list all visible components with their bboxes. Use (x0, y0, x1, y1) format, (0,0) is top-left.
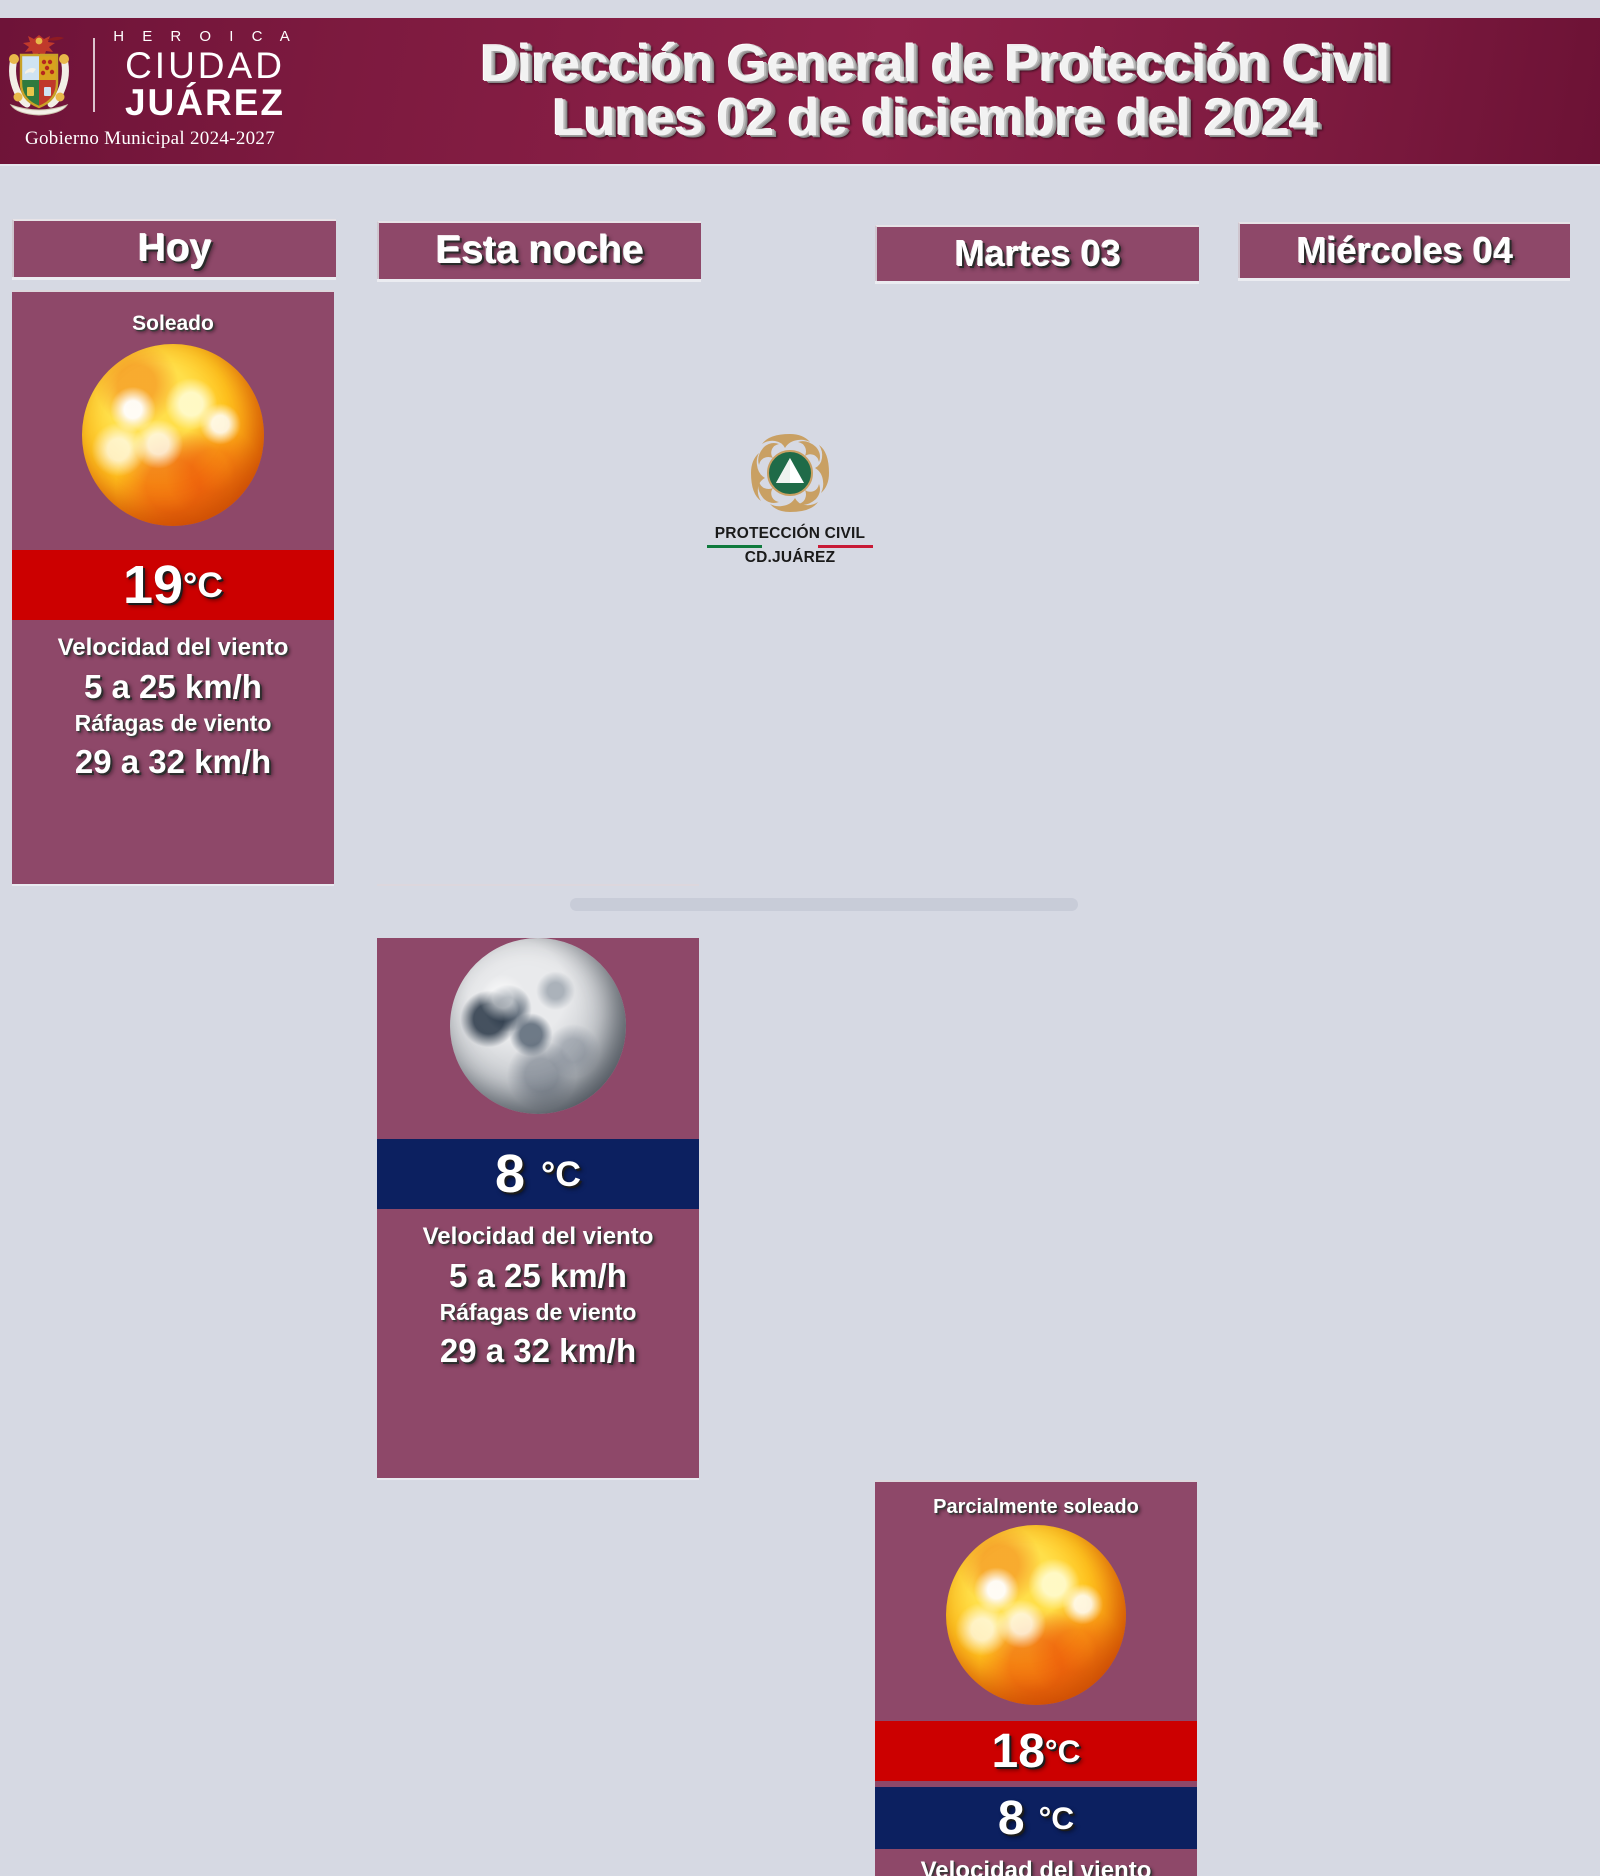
temp-high-value: 19 (123, 554, 183, 616)
wind-gust-label: Ráfagas de viento (12, 710, 334, 737)
brand-subtitle: Gobierno Municipal 2024-2027 (25, 128, 275, 150)
forecast-card-hoy-body: Soleado 19°C Velocidad del viento 5 a 25… (12, 290, 334, 884)
proteccion-civil-logo: PROTECCIÓN CIVIL CD.JUÁREZ (700, 430, 880, 567)
brand-heroica: H E R O I C A (113, 29, 297, 44)
forecast-card-esta-noche-body: Parcialmente nublado 8°C Velocidad del v… (377, 884, 699, 1478)
rule-red (818, 545, 873, 548)
banner-title-line2: Lunes 02 de diciembre del 2024 (552, 91, 1317, 145)
horizontal-scrollbar-thumb[interactable] (570, 898, 1078, 911)
temp-low: 8°C (875, 1787, 1197, 1849)
banner-title-line1: Dirección General de Protección Civil (480, 37, 1389, 91)
card-condition: Parcialmente soleado (875, 1496, 1197, 1519)
temp-low-value: 8 (998, 1791, 1025, 1846)
card-condition: Soleado (12, 312, 334, 336)
card-day-label: Miércoles 04 (1238, 222, 1570, 278)
card-day-label: Esta noche (377, 221, 701, 279)
forecast-card-miercoles[interactable]: Miércoles 04 (1238, 222, 1568, 278)
wind-gust-value: 29 a 32 km/h (12, 743, 334, 781)
header-banner: H E R O I C A CIUDAD JUÁREZ Gobierno Mun… (0, 18, 1600, 164)
moon-icon (450, 938, 626, 1114)
brand-divider (93, 38, 95, 112)
proteccion-civil-triangle-icon (747, 503, 833, 520)
forecast-card-martes-body: Parcialmente soleado 18°C 8°C Velocidad … (875, 1480, 1197, 1876)
weather-infographic-page: H E R O I C A CIUDAD JUÁREZ Gobierno Mun… (0, 0, 1600, 938)
brand-ciudad: CIUDAD (113, 47, 297, 84)
municipal-brand: H E R O I C A CIUDAD JUÁREZ Gobierno Mun… (0, 18, 300, 164)
forecast-card-esta-noche[interactable]: Esta noche (377, 221, 699, 279)
horizontal-scrollbar-track[interactable] (0, 886, 1600, 938)
wind-speed-label: Velocidad del viento (377, 1223, 699, 1251)
sun-icon (946, 1525, 1126, 1705)
rule-green (707, 545, 762, 548)
temp-high: 19°C (12, 550, 334, 620)
wind-speed-value: 5 a 25 km/h (377, 1257, 699, 1295)
wind-gust-label: Ráfagas de viento (377, 1299, 699, 1326)
forecast-card-hoy[interactable]: Hoy (12, 219, 334, 277)
proteccion-civil-title: PROTECCIÓN CIVIL (700, 525, 880, 543)
sun-icon (82, 344, 264, 526)
wind-speed-label: Velocidad del viento (875, 1857, 1197, 1876)
card-day-label: Martes 03 (875, 225, 1199, 281)
temp-high-value: 18 (992, 1724, 1045, 1779)
wind-gust-value: 29 a 32 km/h (377, 1332, 699, 1370)
rule-gap (762, 545, 817, 548)
coat-of-arms-icon (3, 31, 75, 119)
banner-title: Dirección General de Protección Civil Lu… (300, 18, 1600, 164)
wind-speed-label: Velocidad del viento (12, 634, 334, 662)
proteccion-civil-subtitle: CD.JUÁREZ (700, 549, 880, 567)
forecast-card-martes[interactable]: Martes 03 (875, 225, 1197, 281)
temp-low: 8°C (377, 1139, 699, 1209)
temp-high: 18°C (875, 1721, 1197, 1781)
proteccion-civil-rule (707, 545, 873, 548)
temp-low-value: 8 (495, 1143, 525, 1205)
card-day-label: Hoy (12, 219, 336, 277)
brand-juarez: JUÁREZ (113, 84, 297, 121)
wind-speed-value: 5 a 25 km/h (12, 668, 334, 706)
